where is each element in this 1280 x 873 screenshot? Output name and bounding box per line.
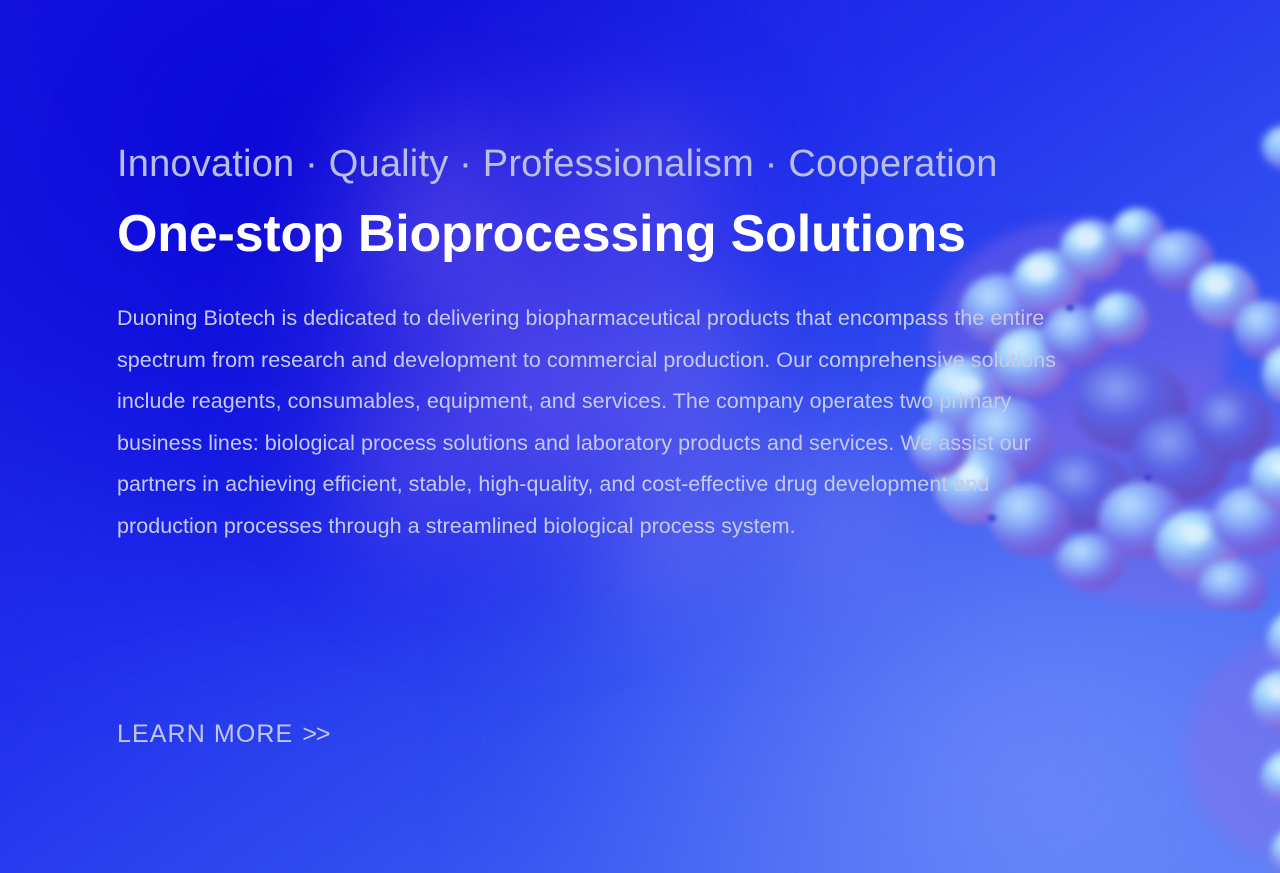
learn-more-label: LEARN MORE [117, 720, 293, 749]
hero-content: Innovation · Quality · Professionalism ·… [117, 0, 1097, 873]
hero-banner: Innovation · Quality · Professionalism ·… [0, 0, 1280, 873]
hero-eyebrow: Innovation · Quality · Professionalism ·… [117, 142, 998, 187]
hero-headline: One-stop Bioprocessing Solutions [117, 203, 966, 265]
hero-description: Duoning Biotech is dedicated to deliveri… [117, 298, 1077, 548]
double-chevron-right-icon: >> [302, 720, 329, 749]
learn-more-link[interactable]: LEARN MORE >> [117, 720, 330, 749]
